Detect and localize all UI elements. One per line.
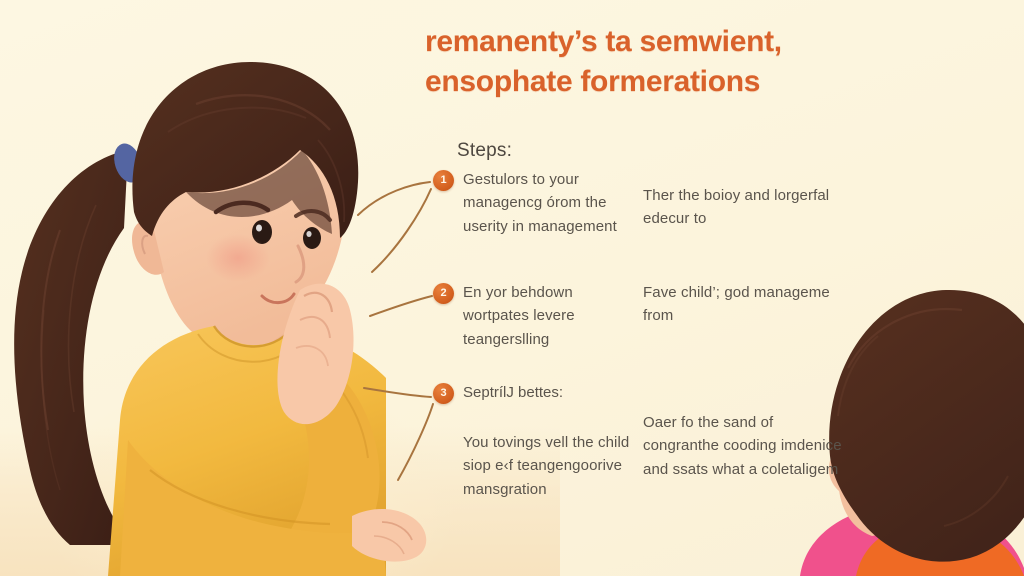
title-line-2: ensophate formerations [425, 62, 1020, 102]
step-1-right-text: Ther the boioy and lorgerfal edecur to [643, 184, 848, 231]
text-content: remanenty’s ta semwient, ensophate forme… [415, 0, 1024, 576]
page-title: remanenty’s ta semwient, ensophate forme… [425, 22, 1020, 102]
step-2-left-text: En yor behdown wortpates levere teangers… [463, 281, 638, 351]
steps-heading: Steps: [457, 140, 512, 162]
girl-blush [206, 234, 270, 282]
girl-illustration [0, 0, 430, 576]
step-marker-2[interactable]: 2 [433, 283, 454, 304]
step-3-sub-heading: SeptrílJ bettes: [463, 381, 663, 404]
girl-ponytail [14, 150, 132, 545]
step-2-right-text: Fave child’; god manageme from [643, 281, 848, 328]
title-line-1: remanenty’s ta semwient, [425, 22, 1020, 62]
step-1-left-text: Gestulors to your managencg órom the use… [463, 168, 638, 238]
step-3-left-text: You tovings vell the child siop e‹f tean… [463, 431, 638, 501]
step-marker-3[interactable]: 3 [433, 383, 454, 404]
step-3-right-text: Oaer fo the sand of congranthe cooding i… [643, 411, 848, 481]
infographic-canvas: remanenty’s ta semwient, ensophate forme… [0, 0, 1024, 576]
step-marker-1[interactable]: 1 [433, 170, 454, 191]
